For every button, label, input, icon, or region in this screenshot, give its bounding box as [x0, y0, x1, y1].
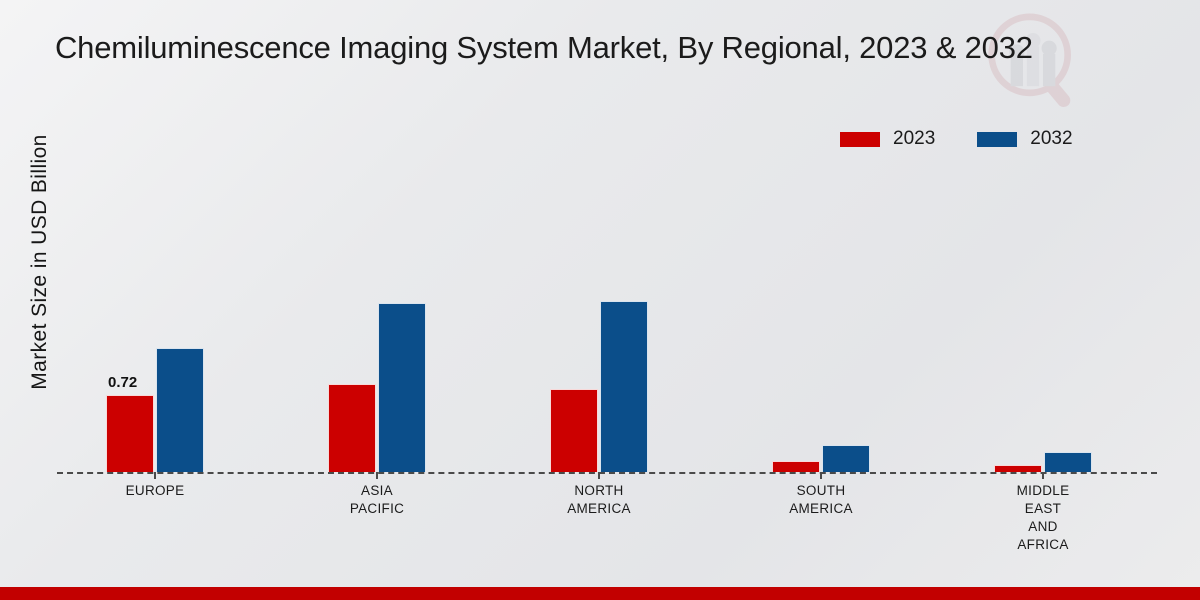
bar-2032-middle-east-and-africa[interactable] [1044, 452, 1092, 472]
bar-2023-middle-east-and-africa[interactable] [994, 465, 1042, 472]
legend-item-2023[interactable]: 2023 [840, 128, 935, 150]
bar-2032-south-america[interactable] [822, 445, 870, 472]
x-axis-label-line: PACIFIC [277, 500, 477, 518]
legend-item-2032[interactable]: 2032 [977, 128, 1072, 150]
bar-pair [499, 142, 699, 472]
x-axis-tick [1042, 472, 1044, 479]
bar-group-south-america: SOUTHAMERICA [721, 142, 921, 472]
bar-value-label: 0.72 [108, 374, 137, 391]
bar-group-middle-east-and-africa: MIDDLEEASTANDAFRICA [943, 142, 1143, 472]
legend-label-2032: 2032 [1030, 128, 1072, 150]
x-axis-tick [376, 472, 378, 479]
bar-2023-north-america[interactable] [550, 389, 598, 472]
x-axis-label-line: EAST [943, 500, 1143, 518]
y-axis-title: Market Size in USD Billion [28, 72, 52, 452]
legend-swatch-2023 [840, 132, 880, 147]
footer-accent-bar [0, 587, 1200, 600]
x-axis-tick [154, 472, 156, 479]
x-axis-label-line: MIDDLE [943, 482, 1143, 500]
bar-2032-north-america[interactable] [600, 301, 648, 472]
x-axis-label: SOUTHAMERICA [721, 482, 921, 518]
bar-2023-south-america[interactable] [772, 461, 820, 472]
x-axis-label-line: SOUTH [721, 482, 921, 500]
x-axis-label: NORTHAMERICA [499, 482, 699, 518]
legend-swatch-2032 [977, 132, 1017, 147]
x-axis-label-line: AFRICA [943, 536, 1143, 554]
bar-group-north-america: NORTHAMERICA [499, 142, 699, 472]
bar-group-europe: EUROPE [55, 142, 255, 472]
x-axis-baseline [57, 472, 1157, 474]
x-axis-label-line: NORTH [499, 482, 699, 500]
bar-2032-europe[interactable] [156, 348, 204, 472]
legend-label-2023: 2023 [893, 128, 935, 150]
chart-plot-area: EUROPEASIAPACIFICNORTHAMERICASOUTHAMERIC… [0, 0, 1200, 600]
bar-pair [55, 142, 255, 472]
x-axis-label-line: AMERICA [721, 500, 921, 518]
bar-pair [721, 142, 921, 472]
bar-group-asia-pacific: ASIAPACIFIC [277, 142, 477, 472]
x-axis-label: EUROPE [55, 482, 255, 500]
x-axis-label-line: EUROPE [55, 482, 255, 500]
x-axis-label-line: AMERICA [499, 500, 699, 518]
page-title: Chemiluminescence Imaging System Market,… [55, 30, 1155, 66]
bar-2023-asia-pacific[interactable] [328, 384, 376, 472]
bar-pair [277, 142, 477, 472]
x-axis-label: ASIAPACIFIC [277, 482, 477, 518]
bar-pair [943, 142, 1143, 472]
x-axis-tick [598, 472, 600, 479]
x-axis-label: MIDDLEEASTANDAFRICA [943, 482, 1143, 554]
chart-legend: 2023 2032 [840, 128, 1073, 150]
x-axis-tick [820, 472, 822, 479]
bar-2032-asia-pacific[interactable] [378, 303, 426, 472]
bar-2023-europe[interactable] [106, 395, 154, 472]
x-axis-label-line: ASIA [277, 482, 477, 500]
x-axis-label-line: AND [943, 518, 1143, 536]
